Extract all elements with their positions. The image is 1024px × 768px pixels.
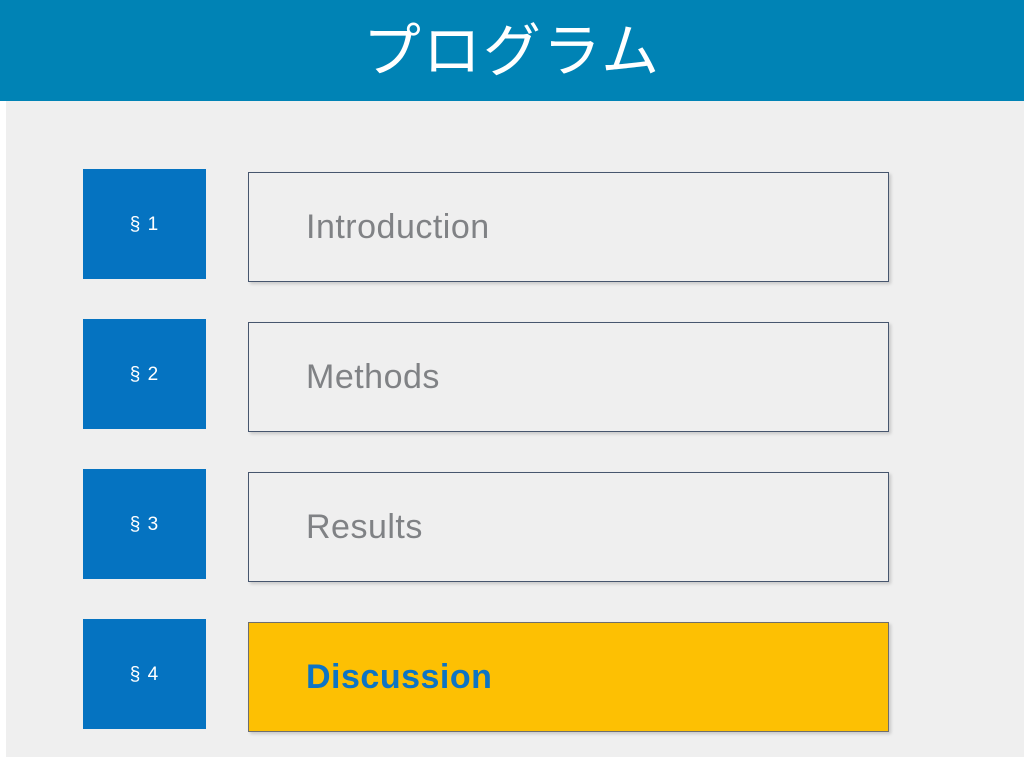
section-title-box-4[interactable]: Discussion (248, 622, 889, 732)
section-number-label: § 2 (130, 365, 159, 384)
section-title-label: Discussion (249, 660, 492, 694)
section-title-label: Methods (249, 360, 440, 394)
section-number-label: § 4 (130, 665, 159, 684)
agenda-list: § 1 Introduction § 2 Methods § 3 Results (83, 169, 895, 729)
presentation-slide: プログラム § 1 Introduction § 2 Methods § 3 R (0, 0, 1024, 768)
page-title: プログラム (363, 22, 661, 80)
section-number-label: § 1 (130, 215, 159, 234)
list-item[interactable]: § 4 Discussion (83, 619, 895, 729)
section-title-box-3[interactable]: Results (248, 472, 889, 582)
section-number-label: § 3 (130, 515, 159, 534)
list-item[interactable]: § 1 Introduction (83, 169, 895, 279)
section-title-label: Introduction (249, 210, 490, 244)
section-title-box-2[interactable]: Methods (248, 322, 889, 432)
section-title-box-1[interactable]: Introduction (248, 172, 889, 282)
slide-header: プログラム (0, 0, 1024, 101)
section-number-chip-1: § 1 (83, 169, 206, 279)
list-item[interactable]: § 2 Methods (83, 319, 895, 429)
section-number-chip-2: § 2 (83, 319, 206, 429)
section-title-label: Results (249, 510, 423, 544)
list-item[interactable]: § 3 Results (83, 469, 895, 579)
section-number-chip-3: § 3 (83, 469, 206, 579)
section-number-chip-4: § 4 (83, 619, 206, 729)
